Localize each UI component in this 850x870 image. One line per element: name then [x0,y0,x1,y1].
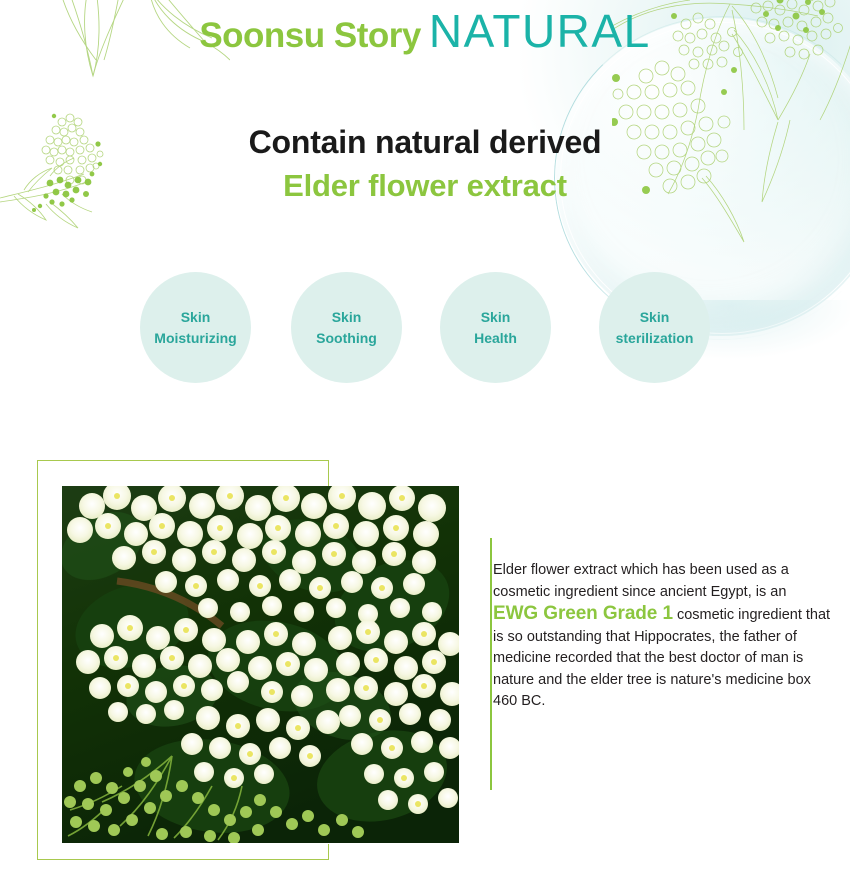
headline-line-1: Contain natural derived [0,120,850,164]
brand-tagline: NATURAL [429,5,651,57]
benefit-label-line1: Skin [154,307,236,328]
benefit-circle-skin-moisturizing[interactable]: Skin Moisturizing [140,272,251,383]
benefit-label-line2: Moisturizing [154,328,236,349]
benefit-label-line1: Skin [316,307,377,328]
page-headline: Contain natural derived Elder flower ext… [0,120,850,208]
benefit-label-line2: sterilization [616,328,694,349]
description-accent-rule [490,538,492,790]
benefit-circle-skin-soothing[interactable]: Skin Soothing [291,272,402,383]
description-block: Elder flower extract which has been used… [493,560,833,713]
product-detail-page: Soonsu StoryNATURAL Contain natural deri… [0,0,850,870]
description-part-1: Elder flower extract which has been used… [493,562,789,600]
benefit-label-line2: Health [474,328,517,349]
elder-flower-photo [62,486,459,843]
brand-title: Soonsu StoryNATURAL [0,4,850,58]
headline-line-2: Elder flower extract [0,164,850,208]
benefit-circle-skin-sterilization[interactable]: Skin sterilization [599,272,710,383]
ewg-grade-highlight: EWG Green Grade 1 [493,603,673,624]
benefit-label-line2: Soothing [316,328,377,349]
benefit-label-line1: Skin [474,307,517,328]
brand-name: Soonsu Story [199,16,421,55]
benefit-label-line1: Skin [616,307,694,328]
benefit-circle-skin-health[interactable]: Skin Health [440,272,551,383]
benefit-circle-group: Skin Moisturizing Skin Soothing Skin Hea… [140,272,720,388]
